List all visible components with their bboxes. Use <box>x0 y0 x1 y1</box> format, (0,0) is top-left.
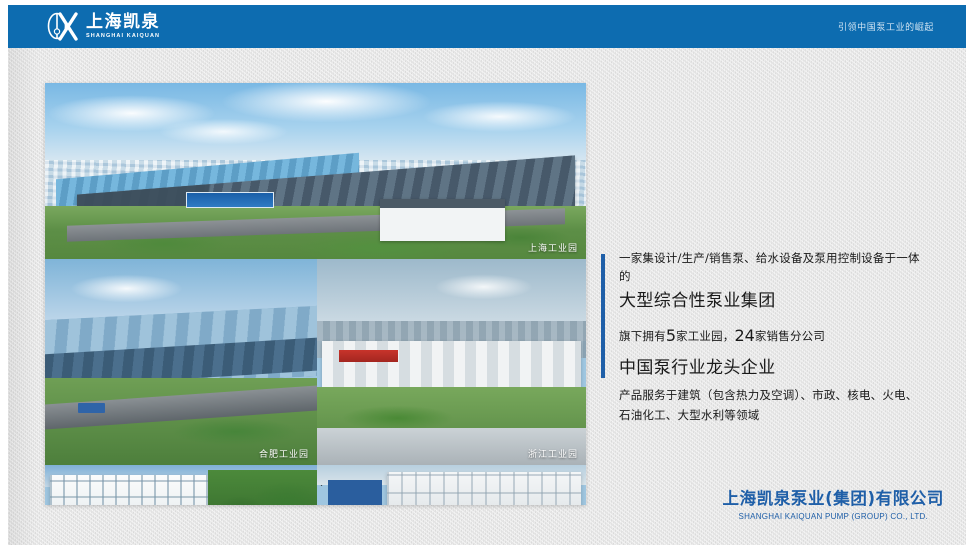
photo-caption: 上海工业园 <box>528 241 578 254</box>
overview-description-line2: 石油化工、大型水利等领域 <box>619 405 931 425</box>
photo-office-building <box>380 199 504 241</box>
overview-headline-secondary: 中国泵行业龙头企业 <box>619 356 931 382</box>
kaiquan-kx-monogram-icon <box>46 11 80 43</box>
photo-office-building <box>387 472 581 505</box>
overview-stats-line: 旗下拥有5家工业园，24家销售分公司 <box>619 323 931 349</box>
photo-zhejiang-park: 浙江工业园 <box>317 259 586 465</box>
company-overview-text: 一家集设计/生产/销售泵、给水设备及泵用控制设备于一体的 大型综合性泵业集团 旗… <box>601 250 931 425</box>
photo-billboard <box>186 192 275 208</box>
company-overview-panel: 一家集设计/生产/销售泵、给水设备及泵用控制设备于一体的 大型综合性泵业集团 旗… <box>601 250 931 425</box>
brand-wordmark: 上海凯泉 SHANGHAI KAIQUAN <box>86 14 160 40</box>
company-name-en: SHANGHAI KAIQUAN PUMP (GROUP) CO., LTD. <box>723 512 944 521</box>
stats-parks-unit: 家工业园， <box>676 329 735 343</box>
photo-hefei-park: 合肥工业园 <box>45 259 317 465</box>
photo-shanghai-park: 上海工业园 <box>45 83 586 259</box>
accent-bar <box>601 254 605 378</box>
photo-red-banner <box>339 350 398 362</box>
overview-lead-line: 一家集设计/生产/销售泵、给水设备及泵用控制设备于一体的 <box>619 250 931 286</box>
header-slogan: 引领中国泵工业的崛起 <box>838 5 934 48</box>
photo-shenyang-park: 沈阳工业园 <box>45 465 317 505</box>
brand-name-en: SHANGHAI KAIQUAN <box>86 34 160 40</box>
slide-canvas: 上海凯泉 SHANGHAI KAIQUAN 引领中国泵工业的崛起 上海工业园 <box>0 0 974 552</box>
photo-vehicle <box>78 403 105 413</box>
photo-trees <box>208 470 317 505</box>
brand-logo[interactable]: 上海凯泉 SHANGHAI KAIQUAN <box>46 9 160 45</box>
stats-branches-unit: 家销售分公司 <box>755 329 825 343</box>
overview-headline: 大型综合性泵业集团 <box>619 289 931 315</box>
industrial-parks-photo-mosaic: 上海工业园 合肥工业园 浙江工业园 <box>45 83 586 505</box>
stats-branches-count: 24 <box>735 326 755 345</box>
photo-caption: 浙江工业园 <box>528 447 578 460</box>
header-bar: 上海凯泉 SHANGHAI KAIQUAN 引领中国泵工业的崛起 <box>8 5 966 48</box>
photo-sky <box>45 83 586 167</box>
photo-shijiazhuang-park: 石家庄工业园 <box>317 465 586 505</box>
photo-caption: 合肥工业园 <box>259 447 309 460</box>
stats-prefix: 旗下拥有 <box>619 329 666 343</box>
photo-gate <box>328 480 382 505</box>
photo-office-building <box>50 475 219 505</box>
photo-bottom-row: 沈阳工业园 石家庄工业园 <box>45 465 586 505</box>
company-name-cn: 上海凯泉泵业(集团)有限公司 <box>723 490 944 509</box>
company-signature: 上海凯泉泵业(集团)有限公司 SHANGHAI KAIQUAN PUMP (GR… <box>723 490 944 521</box>
stats-parks-count: 5 <box>666 326 676 345</box>
brand-name-cn: 上海凯泉 <box>86 14 160 31</box>
overview-description-line1: 产品服务于建筑（包含热力及空调）、市政、核电、火电、 <box>619 385 931 405</box>
